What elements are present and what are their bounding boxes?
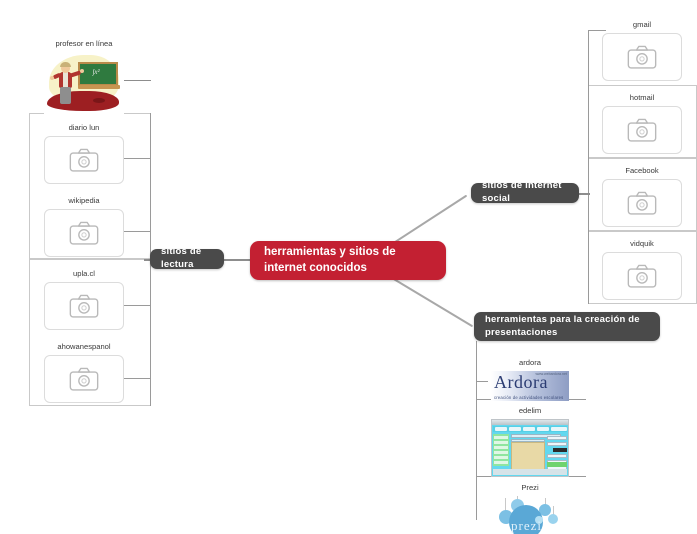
social-trunk-line (588, 30, 589, 304)
leaf-thumb-gmail[interactable] (602, 33, 682, 81)
leaf-thumb-profesor-en-linea[interactable]: ∫x² (44, 52, 124, 116)
camera-placeholder-icon (627, 45, 657, 69)
leaf-label-profesor-en-linea: profesor en línea (44, 38, 124, 49)
leaf-label-vidquik: vidquik (602, 238, 682, 249)
leaf-thumb-ardora[interactable]: Ardora creación de actividades escolares… (491, 371, 569, 401)
leaf-card-profesor-en-linea[interactable]: profesor en línea ∫x² (44, 38, 124, 116)
leaf-thumb-facebook[interactable] (602, 179, 682, 227)
camera-placeholder-icon (627, 264, 657, 288)
leaf-card-prezi[interactable]: Prezi prezi (491, 482, 569, 534)
camera-placeholder-icon (69, 148, 99, 172)
leaf-card-wikipedia[interactable]: wikipedia (44, 195, 124, 257)
branch-node-presentaciones-label: herramientas para la creación de present… (485, 314, 649, 340)
prezi-logo-icon: prezi (491, 496, 569, 534)
teacher-illustration-icon: ∫x² (45, 53, 123, 115)
camera-placeholder-icon (627, 191, 657, 215)
branch-node-social-label: sitios de internet social (482, 180, 568, 206)
social-stem-line (578, 193, 590, 195)
leaf-label-gmail: gmail (602, 19, 682, 30)
leaf-thumb-edelim[interactable] (491, 419, 569, 477)
leaf-thumb-ahowanespanol[interactable] (44, 355, 124, 403)
central-node[interactable]: herramientas y sitios de internet conoci… (250, 241, 446, 280)
camera-placeholder-icon (69, 367, 99, 391)
ardora-banner-icon: Ardora creación de actividades escolares… (491, 371, 569, 401)
edelim-screenshot-icon (491, 419, 569, 477)
central-node-label: herramientas y sitios de internet conoci… (264, 245, 432, 276)
leaf-thumb-vidquik[interactable] (602, 252, 682, 300)
ardora-subtitle: creación de actividades escolares (494, 395, 563, 400)
camera-placeholder-icon (69, 294, 99, 318)
leaf-thumb-hotmail[interactable] (602, 106, 682, 154)
leaf-card-ahowanespanol[interactable]: ahowanespanol (44, 341, 124, 403)
leaf-label-upla-cl: upla.cl (44, 268, 124, 279)
leaf-card-diario-lun[interactable]: diario lun (44, 122, 124, 184)
ardora-topnote: www.webardora.net (535, 372, 567, 376)
camera-placeholder-icon (69, 221, 99, 245)
leaf-thumb-upla-cl[interactable] (44, 282, 124, 330)
leaf-card-facebook[interactable]: Facebook (602, 165, 682, 227)
camera-placeholder-icon (627, 118, 657, 142)
mindmap-canvas: herramientas y sitios de internet conoci… (0, 0, 697, 520)
leaf-label-hotmail: hotmail (602, 92, 682, 103)
leaf-thumb-diario-lun[interactable] (44, 136, 124, 184)
leaf-label-diario-lun: diario lun (44, 122, 124, 133)
leaf-label-ardora: ardora (491, 357, 569, 368)
branch-node-lectura[interactable]: sitios de lectura (150, 249, 224, 269)
leaf-thumb-wikipedia[interactable] (44, 209, 124, 257)
leaf-card-hotmail[interactable]: hotmail (602, 92, 682, 154)
leaf-label-edelim: edelim (491, 405, 569, 416)
leaf-card-edelim[interactable]: edelim (491, 405, 569, 477)
leaf-card-gmail[interactable]: gmail (602, 19, 682, 81)
leaf-label-wikipedia: wikipedia (44, 195, 124, 206)
leaf-card-upla-cl[interactable]: upla.cl (44, 268, 124, 330)
presentaciones-branch-line-ardora (476, 381, 488, 382)
prezi-wordmark: prezi (511, 518, 542, 534)
branch-node-presentaciones[interactable]: herramientas para la creación de present… (474, 312, 660, 341)
branch-node-social[interactable]: sitios de internet social (471, 183, 579, 203)
presentaciones-trunk-line (476, 341, 477, 520)
leaf-label-ahowanespanol: ahowanespanol (44, 341, 124, 352)
leaf-card-vidquik[interactable]: vidquik (602, 238, 682, 300)
leaf-thumb-prezi[interactable]: prezi (491, 496, 569, 534)
central-to-presentaciones-line (383, 272, 473, 327)
leaf-label-prezi: Prezi (491, 482, 569, 493)
leaf-card-ardora[interactable]: ardora Ardora creación de actividades es… (491, 357, 569, 401)
branch-node-lectura-label: sitios de lectura (161, 246, 213, 272)
leaf-label-facebook: Facebook (602, 165, 682, 176)
